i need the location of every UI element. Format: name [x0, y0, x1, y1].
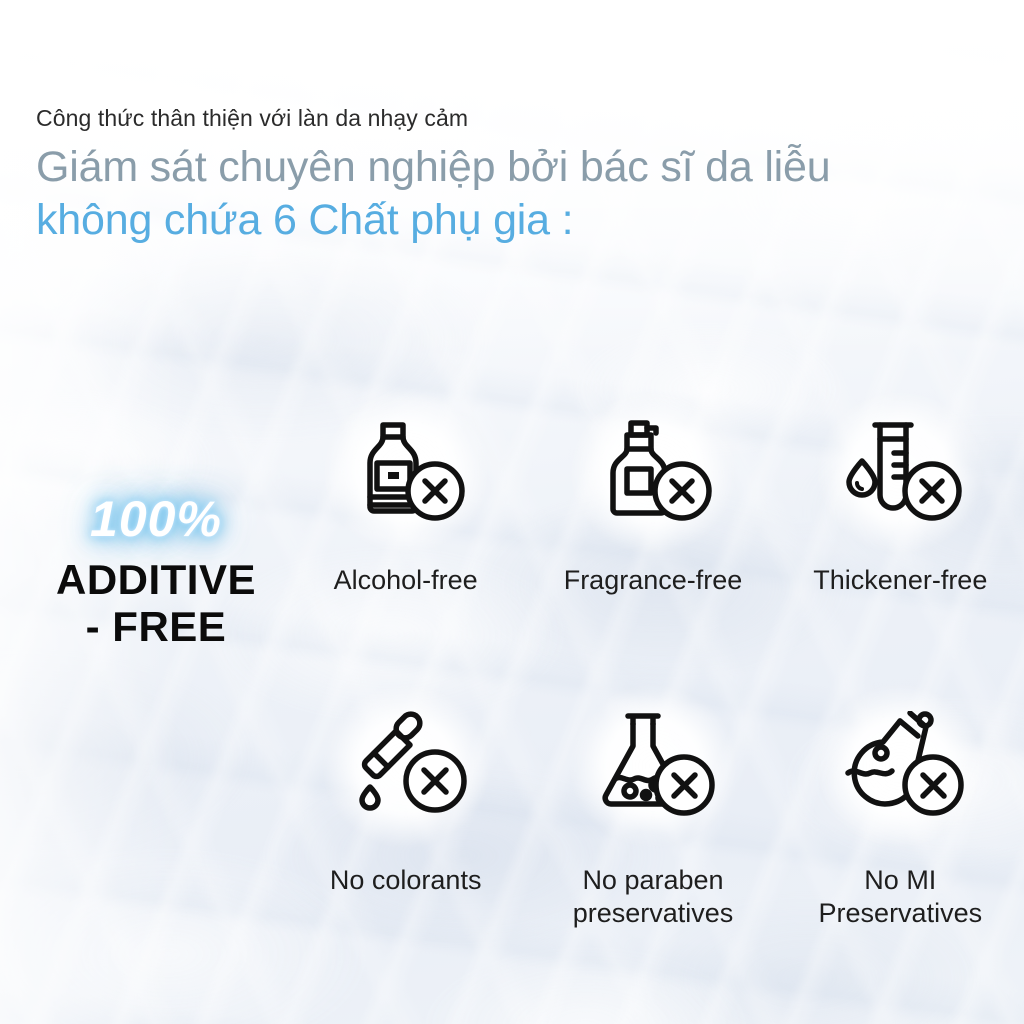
benefit-item-fragrance-free: Fragrance-free	[529, 392, 776, 684]
benefit-icon-grid: Alcohol-free Fragrance-free	[282, 392, 1024, 944]
benefit-item-thickener-free: Thickener-free	[777, 392, 1024, 684]
benefit-label: No MI Preservatives	[819, 864, 983, 930]
badge-percent-text: 100%	[30, 494, 282, 544]
headline-line-2: không chứa 6 Chất phụ gia :	[36, 195, 996, 246]
icon-blob	[326, 686, 486, 846]
icon-blob	[820, 392, 980, 552]
alcohol-bottle-crossed-icon	[342, 417, 470, 527]
headline-line-1: Giám sát chuyên nghiệp bởi bác sĩ da liễ…	[36, 142, 996, 193]
benefit-item-no-colorants: No colorants	[282, 684, 529, 944]
dropper-pipette-crossed-icon	[342, 711, 470, 821]
benefit-item-no-mi-preservatives: No MI Preservatives	[777, 684, 1024, 944]
benefit-label: Thickener-free	[813, 564, 987, 597]
benefit-item-no-paraben: No paraben preservatives	[529, 684, 776, 944]
erlenmeyer-flask-crossed-icon	[589, 711, 717, 821]
eyebrow-text: Công thức thân thiện với làn da nhạy cảm	[36, 104, 996, 134]
round-flask-crossed-icon	[836, 711, 964, 821]
icon-blob	[573, 686, 733, 846]
benefit-label: Fragrance-free	[564, 564, 743, 597]
fragrance-spray-bottle-crossed-icon	[589, 417, 717, 527]
icon-blob	[820, 686, 980, 846]
badge-line-free: - FREE	[30, 603, 282, 650]
benefit-item-alcohol-free: Alcohol-free	[282, 392, 529, 684]
test-tube-droplet-crossed-icon	[836, 417, 964, 527]
benefit-label: No colorants	[330, 864, 482, 897]
icon-blob	[573, 392, 733, 552]
benefit-label: No paraben preservatives	[573, 864, 734, 930]
additive-free-badge: 100% ADDITIVE - FREE	[30, 494, 282, 650]
promo-poster: Công thức thân thiện với làn da nhạy cảm…	[0, 0, 1024, 1024]
icon-blob	[326, 392, 486, 552]
heading-block: Công thức thân thiện với làn da nhạy cảm…	[36, 104, 996, 245]
benefit-label: Alcohol-free	[334, 564, 478, 597]
badge-line-additive: ADDITIVE	[30, 556, 282, 603]
